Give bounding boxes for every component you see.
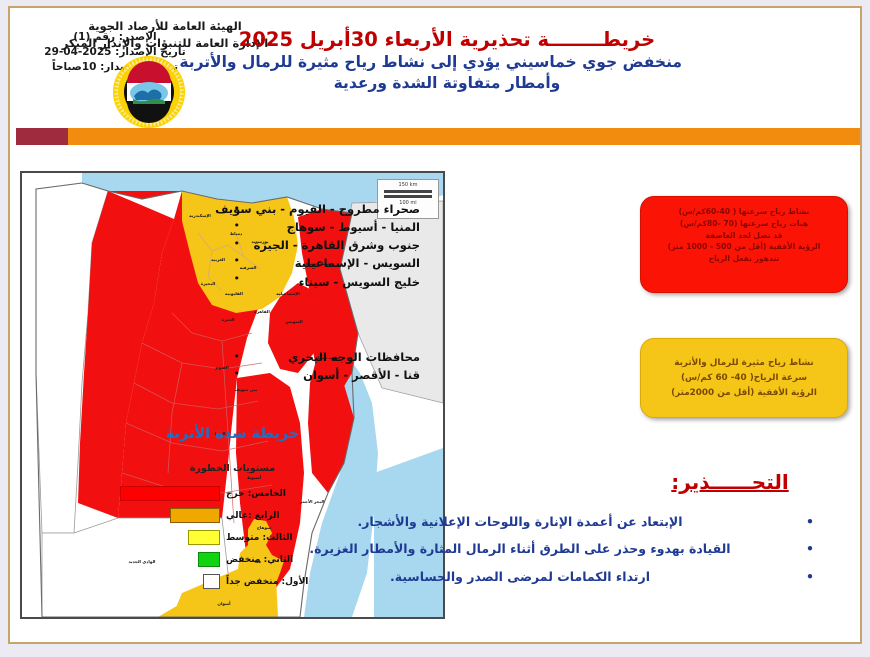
legend-subtitle: مستويات الخطورة <box>22 463 443 474</box>
svg-text:السويس: السويس <box>285 319 303 324</box>
area-item: صحراء مطروح - الفيوم - بني سويف <box>222 200 420 218</box>
svg-text:القاهرة: القاهرة <box>254 309 270 314</box>
critical-zone-callout: نشاط رياح سرعتها ( 40-60كم/س) هبات رياح … <box>640 196 848 293</box>
critical-zone-area-list: صحراء مطروح - الفيوم - بني سويف المنيا -… <box>222 200 420 291</box>
callout-line: سرعة الرياح( 40- 60 كم/س) <box>641 371 847 386</box>
callout-line: نشاط رياح سرعتها ( 40-60كم/س) <box>641 206 847 218</box>
warning-heading: التحــــــذير: <box>640 470 820 494</box>
scalebar-line-mi <box>384 195 432 198</box>
svg-text:البحيرة: البحيرة <box>201 281 216 286</box>
callout-line: الرؤية الأفقية (أقل من 2000متر) <box>641 386 847 401</box>
title-line-2: منخفض جوي خماسيني يؤدي إلى نشاط رياح مثي… <box>212 52 682 73</box>
warning-item-text: القيادة بهدوء وحذر على الطرق أثناء الرما… <box>309 535 730 562</box>
page-title: خريطــــــــة تحذيرية الأربعاء 30أبريل 2… <box>212 28 682 94</box>
title-line-3: وأمطار متفاوتة الشدة ورعدية <box>212 73 682 94</box>
legend-swatch-low <box>198 552 220 567</box>
callout-line: هبات رياح سرعتها (70 -80كم/س) <box>641 218 847 230</box>
title-line-1: خريطــــــــة تحذيرية الأربعاء 30أبريل 2… <box>212 28 682 52</box>
area-item: خليج السويس - سيناء <box>222 273 420 291</box>
header-divider-orange <box>68 128 860 145</box>
header-divider-maroon <box>16 128 68 145</box>
callout-line: الرؤية الأفقية (أقل من 500 - 1000 متر) <box>641 241 847 253</box>
svg-text:الإسماعيلية: الإسماعيلية <box>276 291 300 296</box>
area-item: قنا - الأقصر - أسوان <box>222 366 420 384</box>
callout-line: قد تصل لحد العاصفة <box>641 230 847 242</box>
warning-advice-list: الإبتعاد عن أعمدة الإنارة واللوحات الإعل… <box>220 508 820 590</box>
legend-swatch-moderate <box>188 530 220 545</box>
svg-text:القليوبية: القليوبية <box>225 291 243 296</box>
legend-swatch-critical <box>120 486 220 501</box>
warning-item: الإبتعاد عن أعمدة الإنارة واللوحات الإعل… <box>220 508 820 535</box>
warning-map-slide: الإصدر: رقم (1) تاريخ الإصدار: 2025-04-2… <box>8 6 862 644</box>
warning-item-text: ارتداء الكمامات لمرضى الصدر والحساسية. <box>390 563 650 590</box>
meteorological-authority-sun-logo-icon <box>110 56 188 128</box>
area-item: السويس - الإسماعيلية <box>222 254 420 272</box>
svg-text:أسيوط: أسيوط <box>247 474 262 480</box>
legend-item-critical: الخامس: حرج <box>42 483 312 504</box>
warning-item-text: الإبتعاد عن أعمدة الإنارة واللوحات الإعل… <box>357 508 682 535</box>
scalebar-line-km <box>384 190 432 193</box>
legend-swatch-verylow <box>203 574 220 589</box>
svg-text:الإسكندرية: الإسكندرية <box>189 213 211 218</box>
svg-text:بني سويف: بني سويف <box>235 387 258 392</box>
warning-item: ارتداء الكمامات لمرضى الصدر والحساسية. <box>220 563 820 590</box>
moderate-zone-area-list: محافظات الوجه البحري قنا - الأقصر - أسوا… <box>222 348 420 384</box>
legend-title: خريطة شدة الأتربة <box>22 426 443 442</box>
legend-label-critical: الخامس: حرج <box>220 489 312 499</box>
slide-header: الإصدر: رقم (1) تاريخ الإصدار: 2025-04-2… <box>10 8 860 122</box>
area-item: المنيا - أسيوط - سوهاج <box>222 218 420 236</box>
warning-item: القيادة بهدوء وحذر على الطرق أثناء الرما… <box>220 535 820 562</box>
moderate-zone-callout: نشاط رياح مثيرة للرمال والأتربة سرعة الر… <box>640 338 848 418</box>
callout-line: نشاط رياح مثيرة للرمال والأتربة <box>641 356 847 371</box>
area-item: محافظات الوجه البحري <box>222 348 420 366</box>
scalebar-km: 150 km <box>378 182 438 188</box>
svg-text:الجيزة: الجيزة <box>222 317 235 322</box>
area-item: جنوب وشرق القاهرة - الجيزة <box>222 236 420 254</box>
callout-line: تتدهور بفعل الرياح <box>641 253 847 265</box>
svg-text:أسوان: أسوان <box>217 600 231 606</box>
legend-swatch-high <box>170 508 220 523</box>
